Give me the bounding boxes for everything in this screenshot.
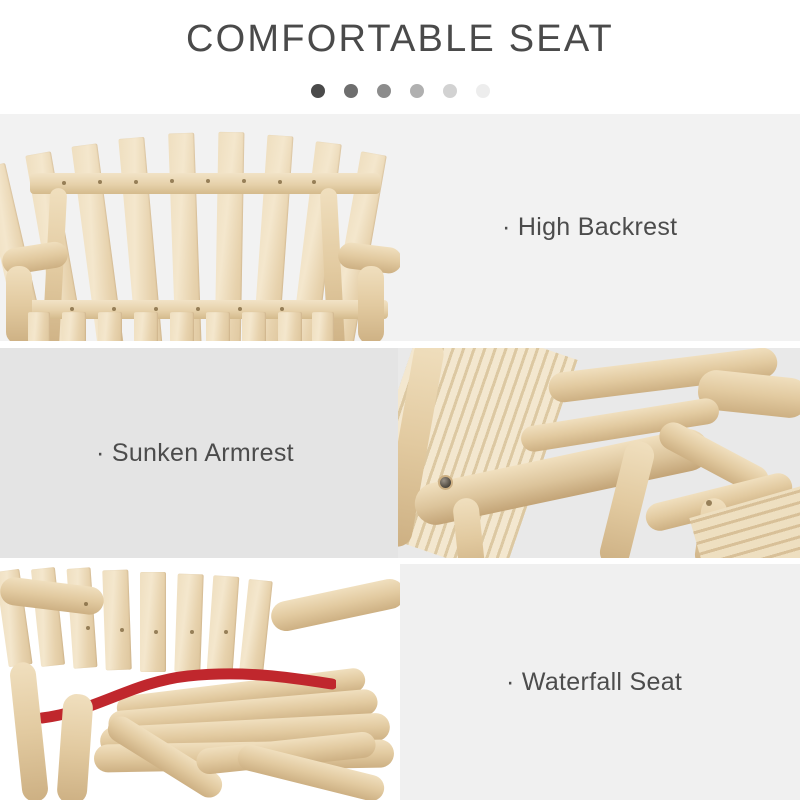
feature-label-high-backrest: · High Backrest bbox=[502, 213, 677, 242]
progress-dot-5[interactable] bbox=[443, 84, 457, 98]
progress-dot-4[interactable] bbox=[410, 84, 424, 98]
armrest-bolt-icon bbox=[438, 475, 453, 490]
feature-row-sunken-armrest: · Sunken Armrest bbox=[0, 348, 800, 558]
progress-dot-3[interactable] bbox=[377, 84, 391, 98]
feature-row-high-backrest: · High Backrest bbox=[0, 114, 800, 341]
feature-label-waterfall-seat: · Waterfall Seat bbox=[506, 668, 682, 697]
progress-dot-6[interactable] bbox=[476, 84, 490, 98]
backrest-illustration bbox=[0, 114, 400, 341]
progress-dot-2[interactable] bbox=[344, 84, 358, 98]
progress-dots bbox=[0, 84, 800, 98]
product-feature-page: COMFORTABLE SEAT bbox=[0, 0, 800, 800]
page-header: COMFORTABLE SEAT bbox=[0, 0, 800, 112]
progress-dot-1[interactable] bbox=[311, 84, 325, 98]
feature-image-high-backrest bbox=[0, 114, 400, 341]
armrest-illustration bbox=[398, 348, 800, 558]
feature-text-sunken-armrest: · Sunken Armrest bbox=[0, 348, 398, 558]
page-title: COMFORTABLE SEAT bbox=[0, 18, 800, 61]
feature-label-sunken-armrest: · Sunken Armrest bbox=[96, 439, 294, 468]
feature-image-sunken-armrest bbox=[398, 348, 800, 558]
feature-row-waterfall-seat: · Waterfall Seat bbox=[0, 564, 800, 800]
feature-text-high-backrest: · High Backrest bbox=[400, 114, 800, 341]
feature-text-waterfall-seat: · Waterfall Seat bbox=[400, 564, 800, 800]
waterfall-seat-illustration bbox=[0, 564, 400, 800]
feature-image-waterfall-seat bbox=[0, 564, 400, 800]
